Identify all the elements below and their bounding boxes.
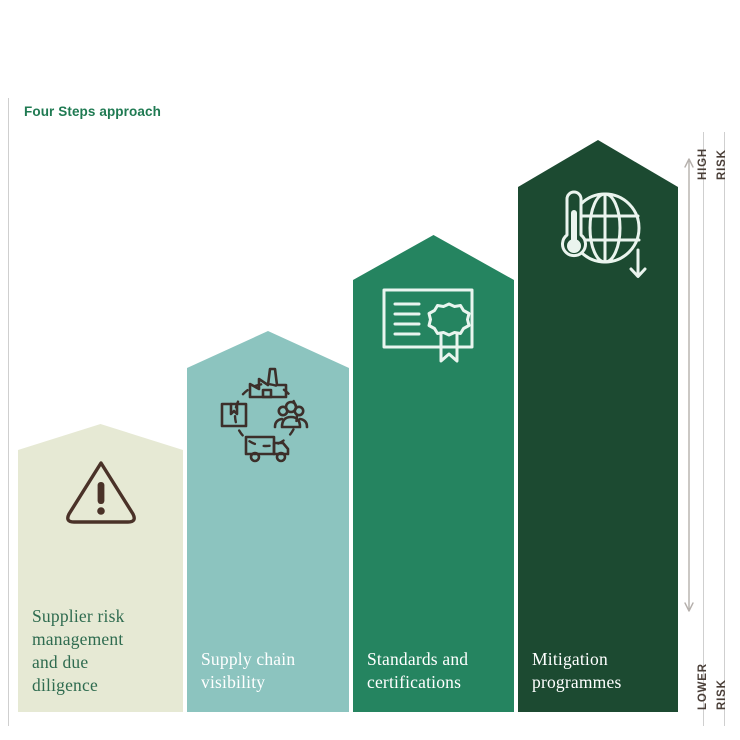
bar-label-1-line4: diligence: [32, 674, 169, 697]
bar-label-4-line1: Mitigation: [532, 648, 664, 671]
bar-label-3-line2: certifications: [367, 671, 500, 694]
axis-label-high-risk-line2: RISK: [716, 149, 728, 180]
axis-label-high-risk-line1: HIGH: [697, 148, 709, 180]
bar-label-1-line3: and due: [32, 651, 169, 674]
certificate-icon: [381, 287, 482, 365]
supply-chain-cycle-icon: [216, 361, 316, 469]
globe-thermometer-icon: [547, 186, 653, 284]
axis-inner-rule: [703, 132, 704, 726]
bar-label-2: Supply chain visibility: [187, 648, 349, 694]
bar-icon-1: [62, 456, 140, 528]
bar-label-3-line1: Standards and: [367, 648, 500, 671]
four-steps-chart: Supplier risk management and due diligen…: [0, 0, 740, 740]
bar-label-4-line2: programmes: [532, 671, 664, 694]
warning-triangle-icon: [62, 456, 140, 528]
bar-icon-2: [216, 361, 316, 469]
axis-label-lower-risk-line1: LOWER: [697, 663, 709, 710]
bar-label-3: Standards and certifications: [353, 648, 514, 694]
bar-icon-4: [547, 186, 653, 284]
axis-outer-rule: [724, 132, 725, 726]
bar-label-2-line1: Supply chain: [201, 648, 335, 671]
infographic-canvas: Four Steps approach Supplier risk manage…: [0, 0, 740, 740]
risk-arrow-line: [683, 155, 695, 615]
double-arrow-icon: [683, 155, 695, 615]
bar-label-4: Mitigation programmes: [518, 648, 678, 694]
bar-label-1-line1: Supplier risk: [32, 605, 169, 628]
axis-label-lower-risk-line2: RISK: [716, 679, 728, 710]
bar-label-1-line2: management: [32, 628, 169, 651]
bar-label-2-line2: visibility: [201, 671, 335, 694]
bar-icon-3: [381, 287, 482, 365]
bar-label-1: Supplier risk management and due diligen…: [18, 605, 183, 697]
